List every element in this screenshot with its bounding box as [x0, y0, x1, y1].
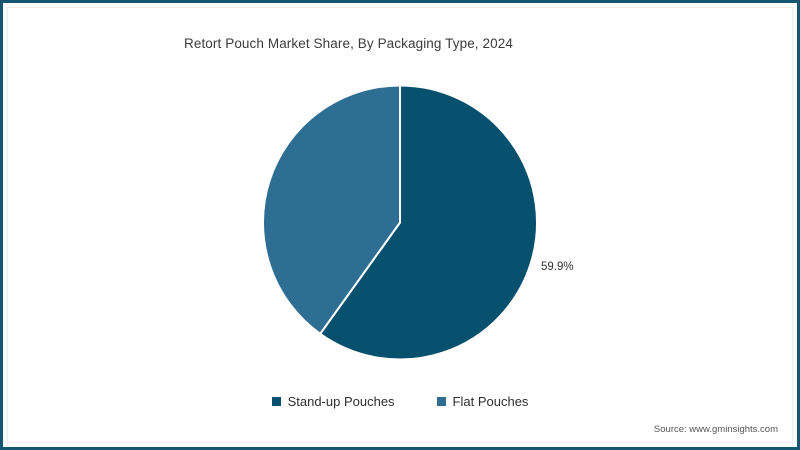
chart-legend: Stand-up Pouches Flat Pouches — [0, 394, 800, 409]
legend-item-flat-pouches[interactable]: Flat Pouches — [437, 394, 529, 409]
legend-item-label: Flat Pouches — [453, 394, 529, 409]
legend-item-stand-up-pouches[interactable]: Stand-up Pouches — [272, 394, 395, 409]
pie-slice-group — [263, 85, 537, 359]
legend-item-label: Stand-up Pouches — [288, 394, 395, 409]
square-swatch-icon — [272, 397, 281, 406]
source-attribution: Source: www.gminsights.com — [654, 424, 778, 435]
square-swatch-icon — [437, 397, 446, 406]
page-title: Retort Pouch Market Share, By Packaging … — [184, 36, 513, 51]
pie-chart-svg — [263, 85, 537, 360]
chart-canvas: Retort Pouch Market Share, By Packaging … — [0, 0, 800, 450]
pie-slice-value-label: 59.9% — [541, 261, 574, 273]
pie-chart — [263, 85, 537, 360]
